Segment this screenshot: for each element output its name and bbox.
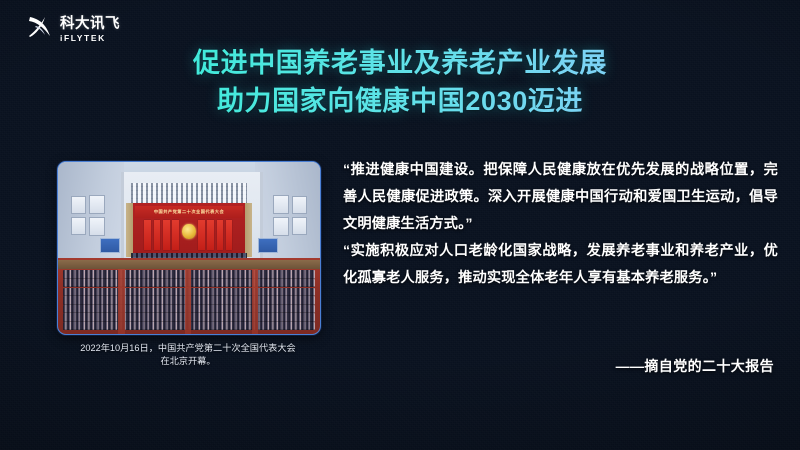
photo-caption: 2022年10月16日，中国共产党第二十次全国代表大会 在北京开幕。 xyxy=(57,342,319,368)
quote-paragraph-1: “推进健康中国建设。把保障人民健康放在优先发展的战略位置，完善人民健康促进政策。… xyxy=(343,157,778,238)
side-window xyxy=(89,195,104,214)
side-window xyxy=(273,195,288,214)
floor-aisle xyxy=(185,269,191,334)
party-emblem-icon xyxy=(182,224,195,239)
photo-caption-line-1: 2022年10月16日，中国共产党第二十次全国代表大会 xyxy=(57,342,319,355)
red-flag xyxy=(226,220,233,249)
iflytek-logo-icon xyxy=(26,14,54,45)
brand-logo: 科大讯飞 iFLYTEK xyxy=(26,14,120,45)
red-flag xyxy=(198,220,205,249)
side-display-screen-right xyxy=(258,238,278,254)
red-flag xyxy=(144,220,151,249)
side-window xyxy=(71,217,86,234)
slide-canvas: 科大讯飞 iFLYTEK 促进中国养老事业及养老产业发展 助力国家向健康中国20… xyxy=(0,0,800,450)
ceiling-grille xyxy=(131,183,246,204)
page-title: 促进中国养老事业及养老产业发展 助力国家向健康中国2030迈进 xyxy=(0,44,800,120)
side-display-screen-left xyxy=(100,238,120,254)
quote-attribution: ——摘自党的二十大报告 xyxy=(616,356,774,376)
brand-name-en: iFLYTEK xyxy=(60,34,120,43)
side-window xyxy=(71,196,86,213)
brand-wordmark: 科大讯飞 iFLYTEK xyxy=(60,17,120,42)
side-window xyxy=(273,217,288,236)
title-line-2: 助力国家向健康中国2030迈进 xyxy=(0,82,800,120)
red-flag xyxy=(154,220,161,249)
brand-name-cn: 科大讯飞 xyxy=(60,17,120,32)
side-window xyxy=(89,217,104,236)
side-window xyxy=(292,196,307,213)
red-flag xyxy=(207,220,214,249)
floor-aisle xyxy=(252,269,258,334)
photo-caption-line-2: 在北京开幕。 xyxy=(57,355,319,368)
great-hall-congress-photo: 中国共产党第二十次全国代表大会 xyxy=(57,161,321,335)
red-flag xyxy=(163,220,170,249)
title-line-1: 促进中国养老事业及养老产业发展 xyxy=(0,44,800,82)
quote-block: “推进健康中国建设。把保障人民健康放在优先发展的战略位置，完善人民健康促进政策。… xyxy=(343,157,778,292)
quote-paragraph-2: “实施积极应对人口老龄化国家战略，发展养老事业和养老产业，优化孤寡老人服务，推动… xyxy=(343,238,778,292)
side-window xyxy=(292,217,307,234)
red-flag xyxy=(217,220,224,249)
stage-banner-text: 中国共产党第二十次全国代表大会 xyxy=(135,206,242,218)
floor-aisle xyxy=(118,269,124,334)
congress-photo-figure: 中国共产党第二十次全国代表大会 xyxy=(57,161,319,368)
red-flag xyxy=(172,220,179,249)
hall-balcony-rail xyxy=(58,260,320,269)
